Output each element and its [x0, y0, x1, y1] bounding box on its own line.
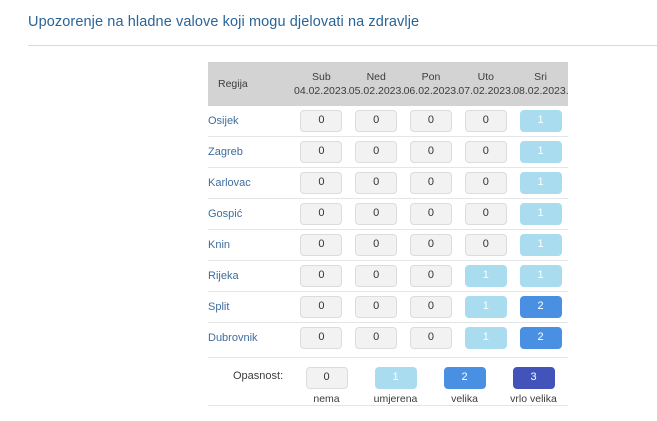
warning-level-badge: 0	[300, 296, 342, 318]
warning-level-badge: 0	[355, 296, 397, 318]
warning-level-badge: 1	[465, 296, 507, 318]
legend-item-2: 2 velika	[430, 367, 499, 405]
legend-caption-1: umjerena	[361, 393, 430, 405]
table-row: Rijeka00011	[208, 261, 568, 292]
warning-level-badge: 1	[520, 141, 562, 163]
warning-level-cell: 0	[294, 230, 349, 261]
warning-level-cell: 1	[513, 230, 568, 261]
warning-level-cell: 0	[458, 230, 513, 261]
warning-level-cell: 0	[458, 199, 513, 230]
warning-level-cell: 0	[404, 199, 459, 230]
warning-level-badge: 1	[520, 172, 562, 194]
legend-item-0: 0 nema	[292, 367, 361, 405]
column-header-day-2: Pon 06.02.2023.	[404, 62, 459, 106]
warning-level-badge: 0	[465, 141, 507, 163]
warning-level-cell: 1	[513, 261, 568, 292]
warning-level-cell: 1	[513, 199, 568, 230]
warning-level-cell: 0	[404, 261, 459, 292]
region-name-cell: Gospić	[208, 199, 294, 230]
warning-level-cell: 0	[349, 323, 404, 354]
warning-level-cell: 0	[294, 261, 349, 292]
warning-level-badge: 0	[300, 110, 342, 132]
warning-level-cell: 0	[404, 323, 459, 354]
table-body: Osijek00001Zagreb00001Karlovac00001Gospi…	[208, 106, 568, 353]
warning-level-cell: 0	[349, 199, 404, 230]
warning-level-badge: 0	[410, 172, 452, 194]
column-header-dow-1: Ned	[349, 70, 404, 84]
region-name-cell: Dubrovnik	[208, 323, 294, 354]
column-header-date-4: 08.02.2023.	[513, 84, 568, 98]
warning-level-cell: 0	[404, 106, 459, 137]
warning-level-cell: 0	[404, 292, 459, 323]
warning-level-badge: 0	[355, 265, 397, 287]
warning-level-badge: 0	[410, 110, 452, 132]
warning-level-badge: 0	[410, 234, 452, 256]
warning-level-badge: 1	[520, 203, 562, 225]
warning-level-badge: 2	[520, 296, 562, 318]
warning-level-cell: 0	[349, 292, 404, 323]
warning-level-badge: 0	[465, 203, 507, 225]
warning-level-cell: 0	[294, 137, 349, 168]
column-header-date-3: 07.02.2023.	[458, 84, 513, 98]
column-header-day-0: Sub 04.02.2023.	[294, 62, 349, 106]
warning-level-cell: 0	[458, 106, 513, 137]
warning-level-cell: 1	[458, 323, 513, 354]
warning-level-badge: 1	[520, 234, 562, 256]
table-header-row: Regija Sub 04.02.2023. Ned 05.02.2023. P…	[208, 62, 568, 106]
table-row: Karlovac00001	[208, 168, 568, 199]
warning-level-cell: 0	[404, 168, 459, 199]
warning-level-badge: 0	[355, 234, 397, 256]
region-name-cell: Zagreb	[208, 137, 294, 168]
warning-level-cell: 0	[349, 261, 404, 292]
warning-level-cell: 0	[349, 106, 404, 137]
table-row: Knin00001	[208, 230, 568, 261]
column-header-day-4: Sri 08.02.2023.	[513, 62, 568, 106]
warning-level-badge: 0	[355, 141, 397, 163]
legend-badge-1: 1	[375, 367, 417, 389]
column-header-dow-2: Pon	[404, 70, 459, 84]
legend-item-3: 3 vrlo velika	[499, 367, 568, 405]
warning-level-cell: 0	[294, 168, 349, 199]
warning-level-badge: 0	[410, 296, 452, 318]
danger-legend: Opasnost: 0 nema 1 umjerena 2 velika 3 v…	[208, 357, 568, 406]
column-header-dow-3: Uto	[458, 70, 513, 84]
warning-level-cell: 1	[458, 261, 513, 292]
legend-label: Opasnost:	[208, 367, 292, 386]
warning-level-badge: 0	[355, 327, 397, 349]
warning-level-cell: 0	[349, 230, 404, 261]
warning-level-cell: 0	[404, 230, 459, 261]
cold-wave-warning-table: Regija Sub 04.02.2023. Ned 05.02.2023. P…	[208, 62, 568, 353]
column-header-dow-0: Sub	[294, 70, 349, 84]
warning-level-badge: 0	[355, 203, 397, 225]
column-header-day-3: Uto 07.02.2023.	[458, 62, 513, 106]
legend-item-1: 1 umjerena	[361, 367, 430, 405]
warning-level-badge: 1	[465, 265, 507, 287]
warning-level-badge: 0	[300, 203, 342, 225]
warning-level-cell: 0	[294, 106, 349, 137]
table-row: Dubrovnik00012	[208, 323, 568, 354]
warning-table-container: Regija Sub 04.02.2023. Ned 05.02.2023. P…	[208, 62, 568, 353]
warning-level-cell: 2	[513, 323, 568, 354]
warning-level-badge: 0	[410, 141, 452, 163]
warning-level-cell: 0	[294, 292, 349, 323]
column-header-date-1: 05.02.2023.	[349, 84, 404, 98]
warning-level-cell: 0	[404, 137, 459, 168]
warning-level-badge: 1	[465, 327, 507, 349]
warning-level-cell: 0	[458, 137, 513, 168]
region-name-cell: Split	[208, 292, 294, 323]
warning-level-cell: 0	[349, 168, 404, 199]
legend-badge-3: 3	[513, 367, 555, 389]
warning-level-badge: 0	[300, 141, 342, 163]
warning-level-cell: 0	[458, 168, 513, 199]
warning-level-cell: 0	[294, 323, 349, 354]
warning-level-badge: 0	[410, 265, 452, 287]
warning-level-badge: 2	[520, 327, 562, 349]
warning-level-badge: 0	[300, 327, 342, 349]
table-row: Osijek00001	[208, 106, 568, 137]
legend-caption-2: velika	[430, 393, 499, 405]
warning-level-cell: 2	[513, 292, 568, 323]
table-head: Regija Sub 04.02.2023. Ned 05.02.2023. P…	[208, 62, 568, 106]
warning-level-badge: 0	[465, 234, 507, 256]
warning-level-cell: 1	[513, 137, 568, 168]
warning-level-cell: 1	[513, 106, 568, 137]
legend-badge-0: 0	[306, 367, 348, 389]
legend-caption-3: vrlo velika	[499, 393, 568, 405]
warning-level-badge: 0	[410, 203, 452, 225]
page-title: Upozorenje na hladne valove koji mogu dj…	[28, 14, 419, 30]
warning-level-badge: 0	[300, 265, 342, 287]
page-root: Upozorenje na hladne valove koji mogu dj…	[0, 0, 657, 421]
column-header-dow-4: Sri	[513, 70, 568, 84]
region-name-cell: Osijek	[208, 106, 294, 137]
warning-level-cell: 1	[513, 168, 568, 199]
table-row: Split00012	[208, 292, 568, 323]
warning-level-badge: 1	[520, 265, 562, 287]
region-name-cell: Knin	[208, 230, 294, 261]
column-header-date-2: 06.02.2023.	[404, 84, 459, 98]
warning-level-badge: 0	[355, 110, 397, 132]
warning-level-badge: 0	[465, 172, 507, 194]
warning-level-badge: 0	[410, 327, 452, 349]
warning-level-badge: 0	[465, 110, 507, 132]
column-header-region: Regija	[208, 62, 294, 106]
legend-badge-2: 2	[444, 367, 486, 389]
warning-level-cell: 1	[458, 292, 513, 323]
table-row: Gospić00001	[208, 199, 568, 230]
region-name-cell: Karlovac	[208, 168, 294, 199]
region-name-cell: Rijeka	[208, 261, 294, 292]
column-header-date-0: 04.02.2023.	[294, 84, 349, 98]
title-divider	[28, 45, 657, 46]
warning-level-badge: 0	[355, 172, 397, 194]
warning-level-badge: 1	[520, 110, 562, 132]
warning-level-cell: 0	[294, 199, 349, 230]
column-header-day-1: Ned 05.02.2023.	[349, 62, 404, 106]
legend-caption-0: nema	[292, 393, 361, 405]
table-row: Zagreb00001	[208, 137, 568, 168]
warning-level-cell: 0	[349, 137, 404, 168]
warning-level-badge: 0	[300, 172, 342, 194]
warning-level-badge: 0	[300, 234, 342, 256]
